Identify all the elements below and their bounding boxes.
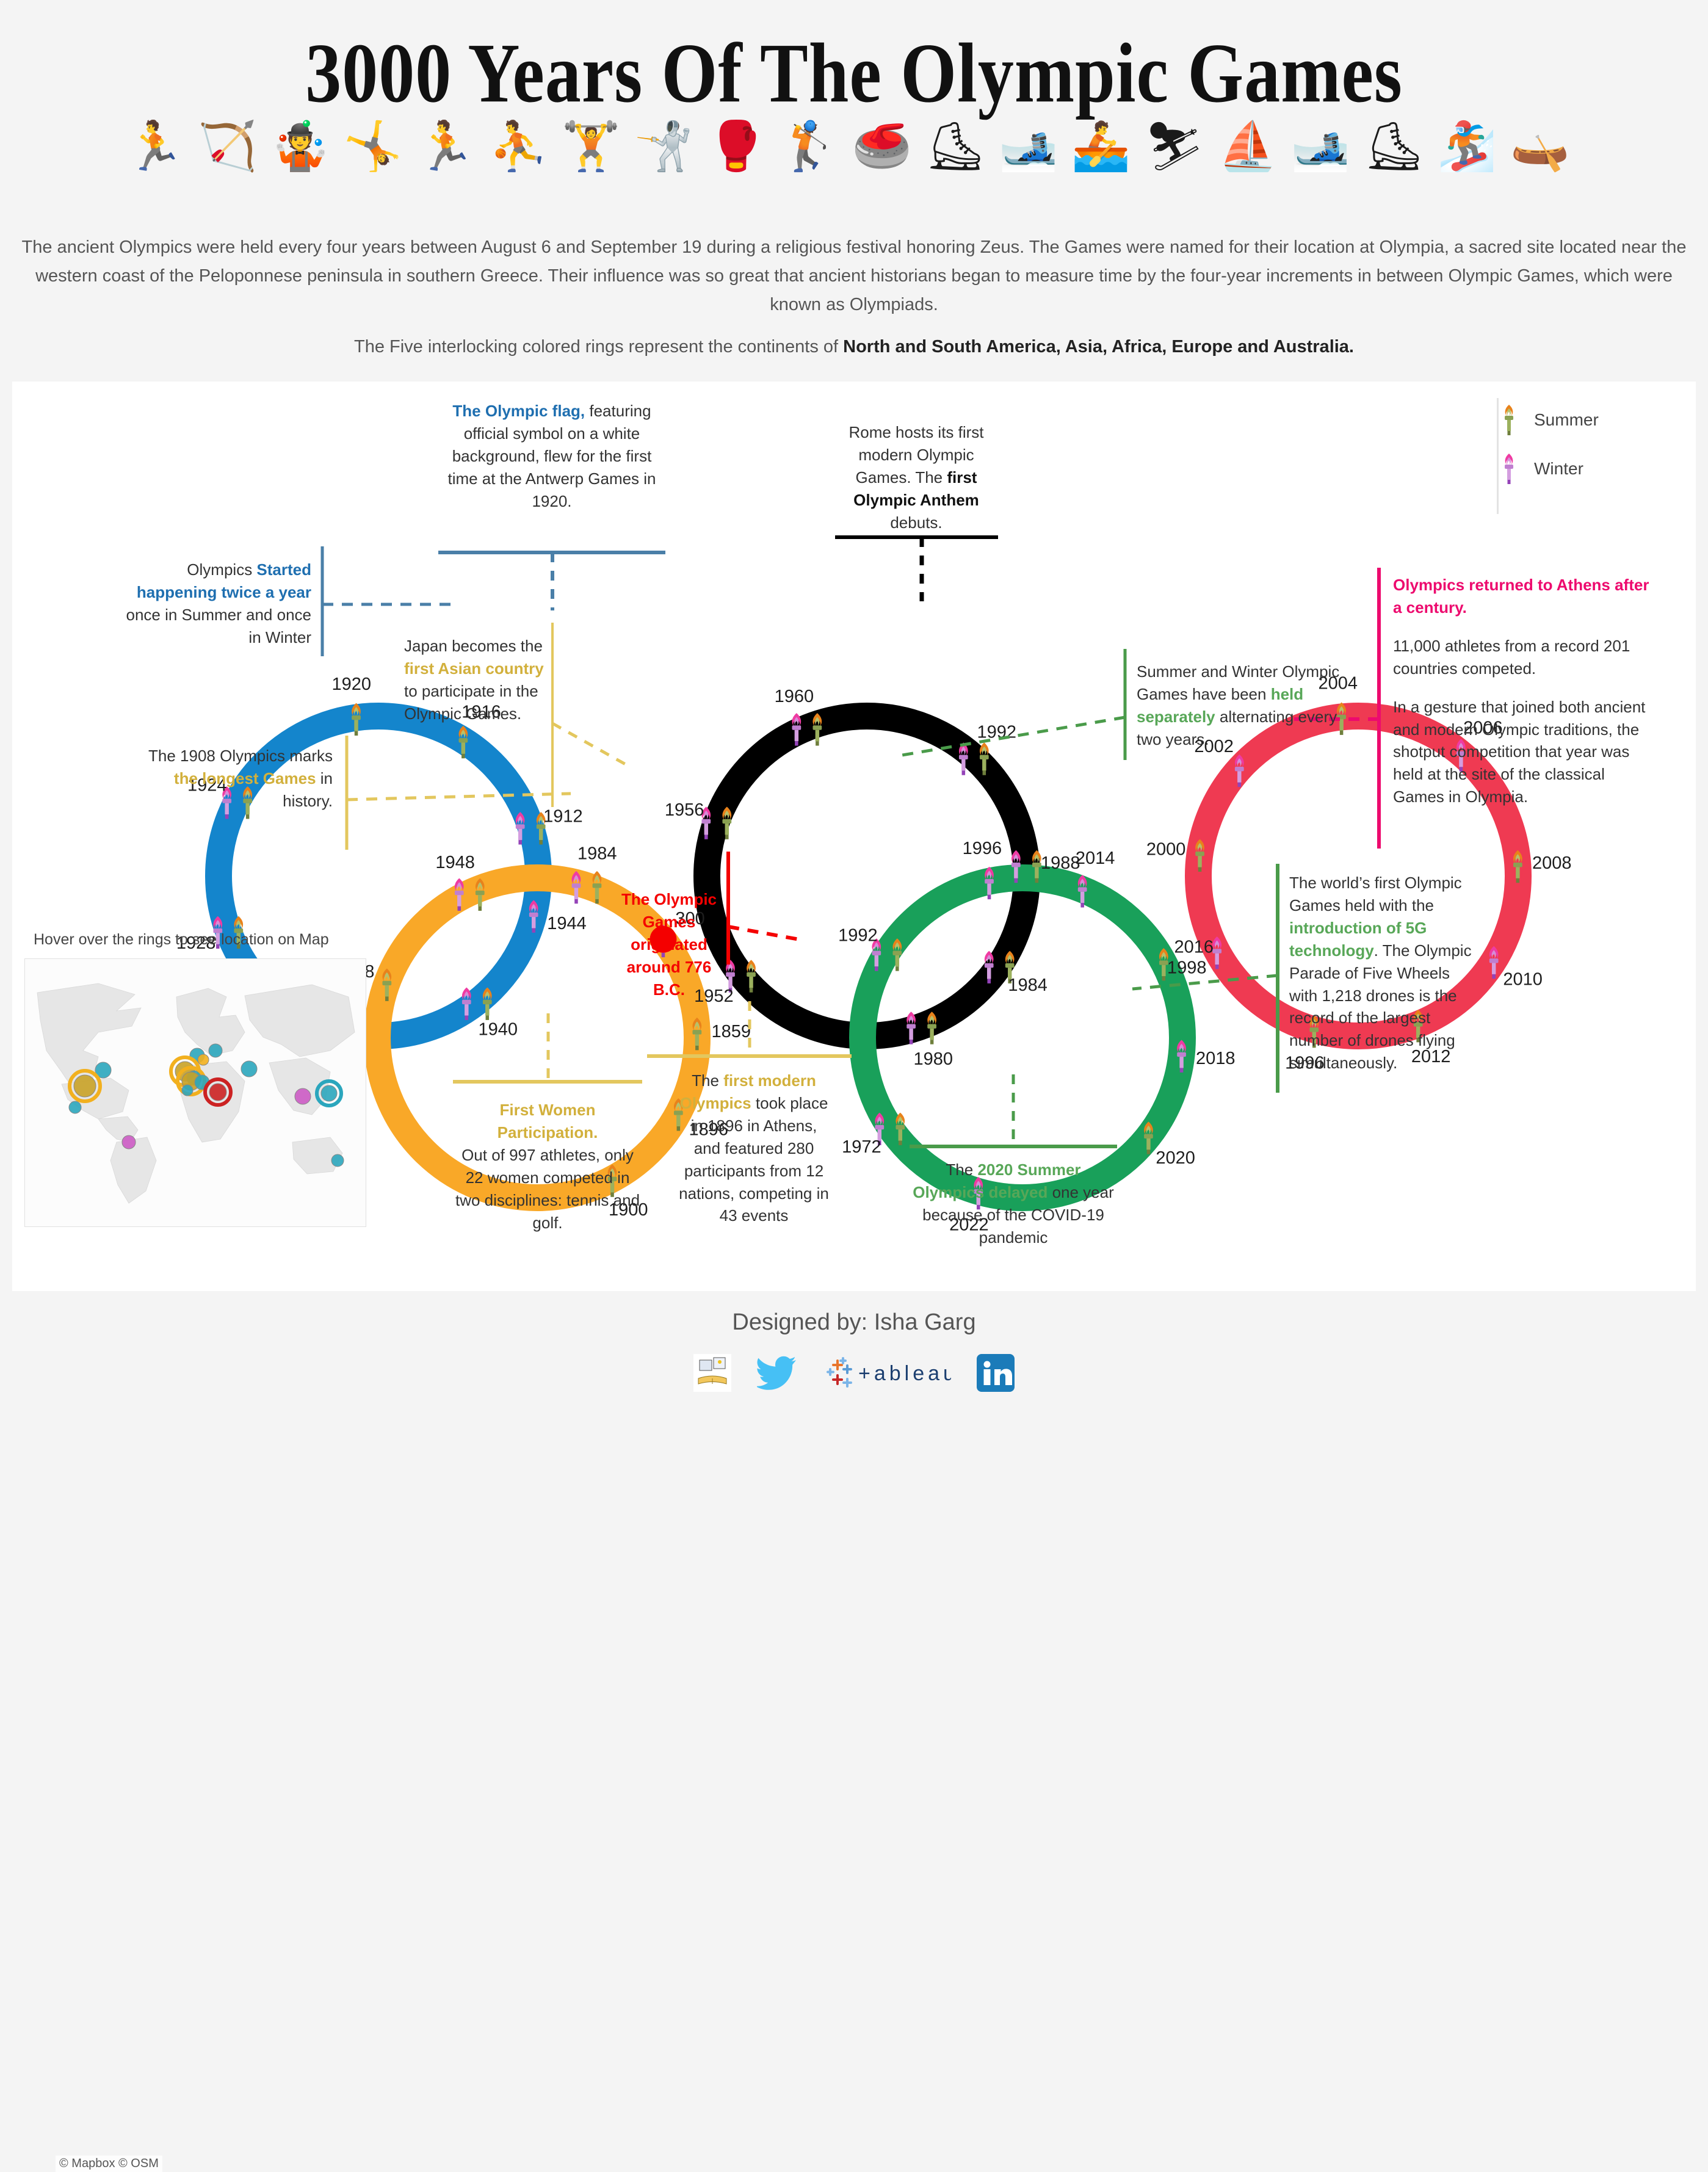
summer-torch-icon	[927, 1012, 936, 1044]
ring-year-label: 1980	[914, 1049, 954, 1069]
ring-year-label: 1984	[577, 844, 617, 864]
ring-year-label: 2018	[1196, 1049, 1236, 1068]
longest-games-highlight: the longest Games	[174, 769, 316, 787]
annotation-athens-return: Olympics returned to Athens after a cent…	[1393, 574, 1649, 808]
held-sep-pre: Summer and Winter Olympic Games have bee…	[1137, 662, 1339, 703]
annotation-5g: The world’s first Olympic Games held wit…	[1289, 872, 1480, 1074]
ring-year-label: 1920	[331, 675, 371, 694]
first-asian-highlight: first Asian country	[404, 659, 544, 678]
ring-year-label: 1940	[479, 1020, 518, 1040]
svg-text:+ableau: +ableau	[858, 1362, 951, 1385]
annotation-origin-776bc: The Olympic Games originated around 776 …	[613, 888, 725, 1001]
world-map[interactable]: © Mapbox © OSM	[24, 958, 366, 1227]
ring-year-label: 1992	[838, 925, 878, 945]
map-point[interactable]	[241, 1061, 257, 1077]
annotation-first-modern: The first modern Olympics took place in …	[678, 1070, 830, 1227]
map-point[interactable]	[74, 1075, 96, 1097]
athens-p1: 11,000 athletes from a record 201 countr…	[1393, 635, 1649, 680]
map-hover-hint: Hover over the rings to see location on …	[34, 931, 329, 949]
ring-year-label: 1960	[775, 687, 814, 706]
map-point[interactable]	[209, 1084, 226, 1101]
map-attribution: © Mapbox © OSM	[56, 2156, 162, 2172]
annotation-held-separately: Summer and Winter Olympic Games have bee…	[1137, 661, 1352, 751]
first-women-title: First Women Participation.	[498, 1101, 598, 1142]
ring-year-label: 1988	[1041, 853, 1080, 873]
annotation-japan-first-asian: Japan becomes the first Asian country to…	[404, 635, 554, 725]
athens-p2: In a gesture that joined both ancient an…	[1393, 696, 1649, 809]
map-point[interactable]	[209, 1044, 222, 1057]
map-point[interactable]	[295, 1088, 311, 1104]
map-point[interactable]	[198, 1054, 209, 1065]
athens-title: Olympics returned to Athens after a cent…	[1393, 576, 1649, 617]
tech5g-pre: The world’s first Olympic Games held wit…	[1289, 874, 1462, 914]
origin-text: The Olympic Games originated around 776 …	[621, 890, 717, 999]
ring-year-label: 1944	[547, 914, 587, 933]
winter-torch-icon	[959, 742, 968, 775]
ring-year-label: 2008	[1532, 853, 1572, 873]
first-asian-post: to participate in the Olympic Games.	[404, 682, 538, 723]
map-point[interactable]	[321, 1085, 337, 1101]
ring-year-label: 1859	[712, 1022, 751, 1041]
ring-year-label: 2010	[1503, 970, 1543, 990]
ring-year-label: 1912	[543, 807, 583, 827]
map-point[interactable]	[69, 1101, 81, 1113]
designed-by: Designed by: Isha Garg	[0, 1309, 1708, 1336]
annotation-olympic-flag: The Olympic flag, featuring official sym…	[438, 400, 665, 513]
annotation-rome: Rome hosts its first modern Olympic Game…	[836, 421, 996, 534]
first-modern-post: took place in 1896 in Athens, and featur…	[679, 1094, 829, 1225]
annotation-covid: The 2020 Summer Olympics delayed one yea…	[910, 1159, 1117, 1249]
ring-year-label: 1972	[842, 1137, 881, 1157]
ring-year-label: 2000	[1146, 840, 1186, 860]
ring-year-label: 1984	[1008, 976, 1048, 995]
tech5g-post: . The Olympic Parade of Five Wheels with…	[1289, 941, 1472, 1073]
ring-year-label: 2014	[1076, 849, 1115, 868]
map-point[interactable]	[331, 1154, 344, 1167]
map-point[interactable]	[182, 1085, 193, 1096]
annotation-twice-a-year: Olympics Started happening twice a year …	[125, 559, 311, 649]
tableau-icon[interactable]: +ableau	[823, 1354, 951, 1392]
summer-torch-icon	[483, 988, 492, 1020]
ring-year-label: 1996	[963, 839, 1002, 858]
ring-year-label: 2016	[1174, 938, 1214, 957]
ring-year-label: 1956	[665, 800, 704, 820]
olympic-flag-highlight: The Olympic flag,	[452, 402, 585, 420]
annotation-longest-games: The 1908 Olympics marks the longest Game…	[134, 745, 333, 813]
map-point[interactable]	[122, 1135, 136, 1149]
ring-year-label: 1948	[435, 853, 475, 872]
map-svg	[25, 959, 366, 1226]
summer-torch-icon	[476, 878, 485, 911]
winter-torch-icon	[572, 871, 581, 903]
ring-year-label: 1998	[1167, 958, 1207, 977]
ring-year-label: 2020	[1156, 1148, 1195, 1168]
ring-year-label: 1992	[977, 723, 1017, 742]
first-women-body: Out of 997 athletes, only 22 women compe…	[455, 1146, 640, 1232]
linkedin-icon[interactable]	[977, 1354, 1015, 1392]
social-links: +ableau	[0, 1354, 1708, 1392]
data-viz-icon[interactable]	[693, 1354, 731, 1392]
summer-torch-icon	[812, 713, 822, 745]
twitter-icon[interactable]	[757, 1354, 797, 1392]
annotation-first-women: First Women Participation. Out of 997 at…	[453, 1099, 642, 1234]
